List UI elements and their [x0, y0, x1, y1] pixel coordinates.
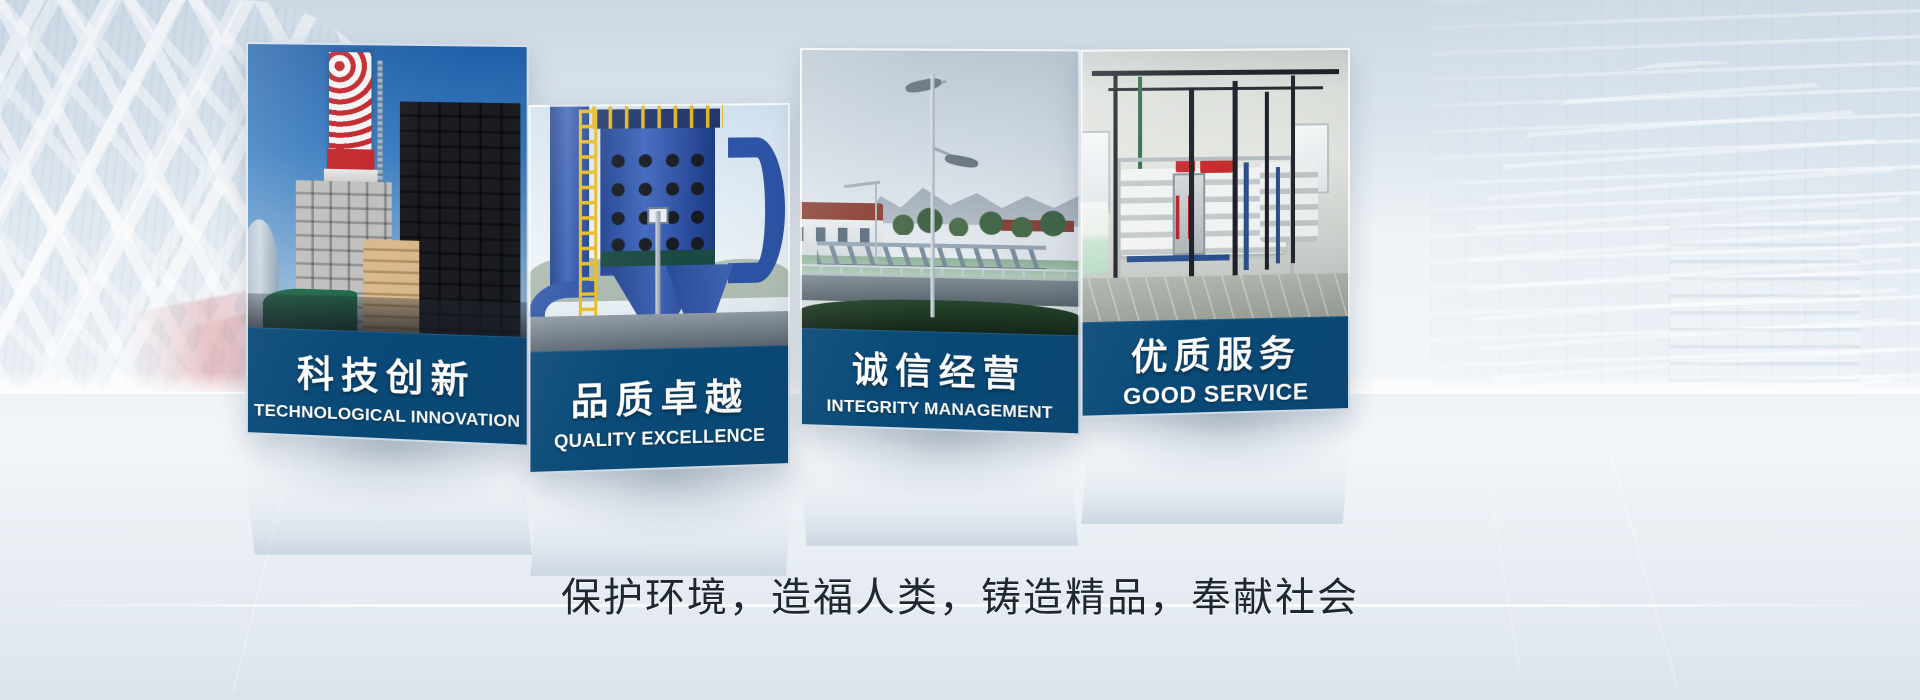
- panel-4-title-cn: 优质服务: [1131, 324, 1301, 381]
- scene-ro-membrane-room: [1081, 48, 1350, 322]
- banner-slogan: 保护环境，造福人类，铸造精品，奉献社会: [0, 565, 1920, 623]
- culture-panel-technological-innovation[interactable]: 科技创新 TECHNOLOGICAL INNOVATION: [246, 42, 529, 447]
- glossy-floor: [0, 392, 1920, 700]
- scene-power-plant-chimney: [246, 42, 529, 337]
- panel-4-title-en: GOOD SERVICE: [1123, 378, 1309, 410]
- scene-wastewater-treatment: [800, 48, 1080, 335]
- panel-3-title-en: INTEGRITY MANAGEMENT: [827, 396, 1053, 423]
- panel-1-caption: 科技创新 TECHNOLOGICAL INNOVATION: [246, 327, 529, 447]
- panel-1-photo: [246, 42, 529, 337]
- panel-2-title-cn: 品质卓越: [571, 366, 749, 426]
- company-culture-banner: 科技创新 TECHNOLOGICAL INNOVATION: [0, 0, 1920, 700]
- panel-2-caption: 品质卓越 QUALITY EXCELLENCE: [528, 345, 790, 474]
- culture-panel-good-service[interactable]: 优质服务 GOOD SERVICE: [1081, 48, 1350, 418]
- panel-1-title-en: TECHNOLOGICAL INNOVATION: [254, 400, 520, 432]
- panel-3-caption: 诚信经营 INTEGRITY MANAGEMENT: [800, 328, 1080, 435]
- panel-2-photo: [528, 103, 790, 352]
- panel-3-title-cn: 诚信经营: [852, 340, 1027, 398]
- panel-2-title-en: QUALITY EXCELLENCE: [554, 425, 765, 453]
- culture-panel-quality-excellence[interactable]: 品质卓越 QUALITY EXCELLENCE: [528, 103, 790, 474]
- culture-panel-integrity-management[interactable]: 诚信经营 INTEGRITY MANAGEMENT: [800, 48, 1080, 435]
- panel-3-photo: [800, 48, 1080, 335]
- panel-4-caption: 优质服务 GOOD SERVICE: [1081, 316, 1350, 418]
- panel-4-photo: [1081, 48, 1350, 322]
- panel-1-title-cn: 科技创新: [297, 343, 476, 405]
- scene-dust-collector: [528, 103, 790, 352]
